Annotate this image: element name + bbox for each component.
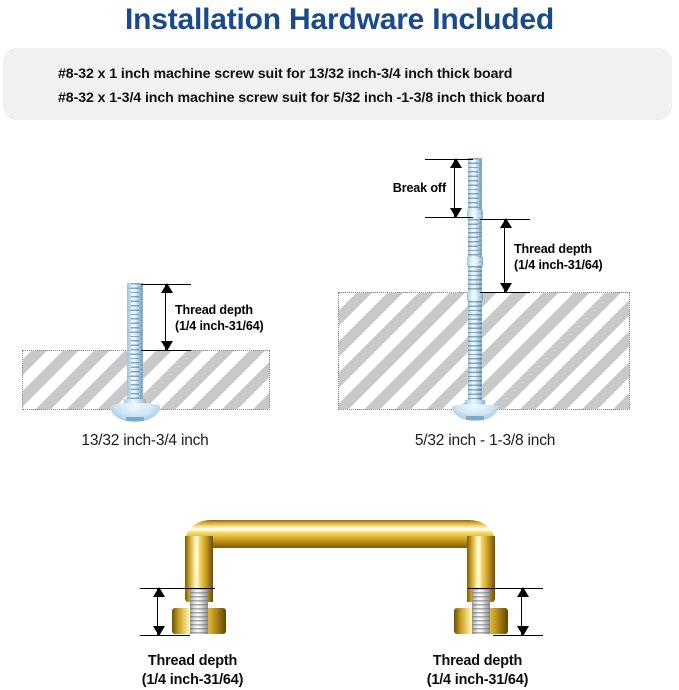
screw-head-notch	[126, 417, 144, 421]
ext-line-handle-left-top	[140, 588, 215, 589]
caption-left: 13/32 inch-3/4 inch	[0, 432, 290, 450]
thread-depth-label-left-line2: (1/4 inch-31/64)	[175, 318, 264, 334]
arrow-down-icon	[500, 283, 512, 293]
arrow-down-icon	[161, 341, 173, 351]
arrow-up-icon	[161, 283, 173, 293]
dimension-line-breakoff	[454, 159, 455, 217]
long-breakoff-screw-diagram: Break off Thread depth (1/4 inch-31/64) …	[330, 140, 679, 460]
screw-thread-edge-right	[139, 283, 143, 405]
handle-label-right-line2: (1/4 inch-31/64)	[427, 672, 529, 688]
thread-depth-label-right-line2: (1/4 inch-31/64)	[514, 257, 603, 273]
board-right	[338, 292, 630, 410]
handle-label-left: Thread depth (1/4 inch-31/64)	[100, 652, 285, 690]
post-threads-left-front	[190, 608, 208, 634]
screw-thread-edge-r	[478, 158, 482, 406]
post-threads-right-front	[472, 608, 490, 634]
handle-top-bar	[210, 520, 468, 548]
dimension-line-handle-left	[157, 588, 158, 635]
ext-line-handle-right-top	[468, 588, 543, 589]
short-screw-diagram: Thread depth (1/4 inch-31/64) 13/32 inch…	[0, 0, 330, 320]
dimension-line-thread-depth-right	[504, 219, 505, 292]
handle-post-left-front	[190, 608, 208, 634]
screw-thread-edge	[127, 283, 131, 405]
screw-head-notch-right	[466, 416, 484, 420]
arrow-down-icon	[450, 208, 462, 218]
handle-label-left-line1: Thread depth	[148, 653, 237, 669]
thread-depth-label-left-line1: Thread depth	[175, 302, 253, 318]
handle-label-right: Thread depth (1/4 inch-31/64)	[385, 652, 570, 690]
arrow-down-icon	[517, 626, 529, 636]
breakoff-label: Break off	[330, 180, 446, 196]
handle-label-right-line1: Thread depth	[433, 653, 522, 669]
arrow-up-icon	[153, 587, 165, 597]
thread-depth-label-right-line1: Thread depth	[514, 241, 592, 257]
board-left	[22, 350, 270, 410]
dimension-line-handle-right	[521, 588, 522, 635]
dimension-line-thread-depth-left	[165, 284, 166, 350]
caption-right: 5/32 inch - 1-3/8 inch	[345, 432, 625, 450]
gold-cabinet-pull-diagram: Thread depth (1/4 inch-31/64) Thread dep…	[0, 500, 679, 690]
arrow-up-icon	[450, 158, 462, 168]
ext-line-handle-left-bottom	[140, 635, 190, 636]
handle-post-right-front	[472, 608, 490, 634]
arrow-up-icon	[517, 587, 529, 597]
arrow-up-icon	[500, 218, 512, 228]
arrow-down-icon	[153, 626, 165, 636]
handle-label-left-line2: (1/4 inch-31/64)	[142, 672, 244, 688]
